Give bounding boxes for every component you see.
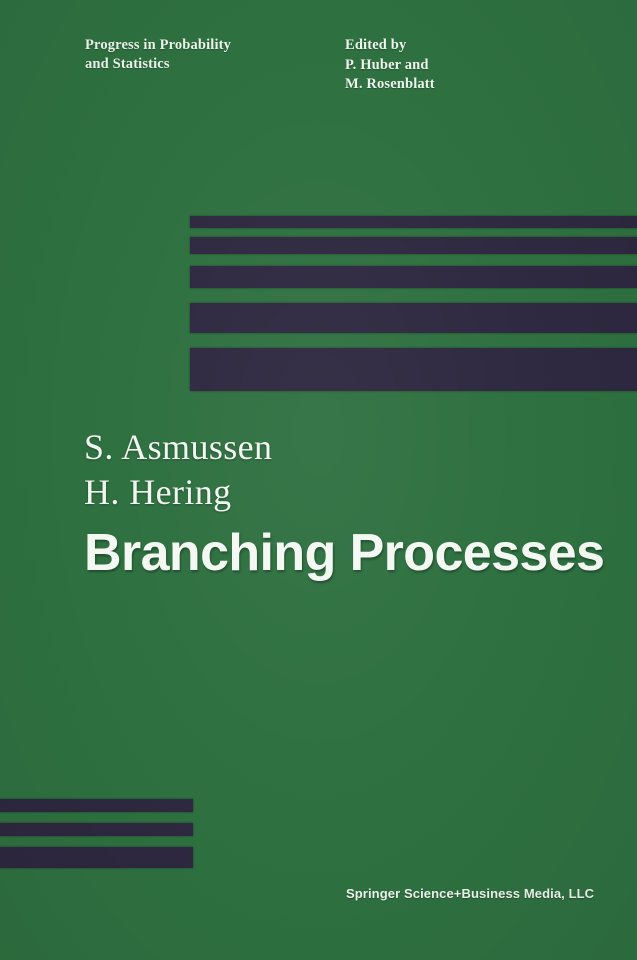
editors-credit: Edited by P. Huber and M. Rosenblatt (345, 36, 595, 95)
decorative-bar-top-5 (190, 348, 637, 391)
author-line-1: S. Asmussen (84, 425, 272, 470)
series-line-1: Progress in Probability (85, 36, 345, 55)
book-cover: Progress in Probability and Statistics E… (0, 0, 637, 960)
editors-line-1: Edited by (345, 36, 595, 56)
author-names: S. Asmussen H. Hering (84, 425, 272, 515)
editors-line-2: P. Huber and (345, 56, 595, 76)
decorative-bar-bottom-2 (0, 823, 193, 836)
decorative-bar-bottom-1 (0, 799, 193, 812)
decorative-bar-top-3 (190, 266, 637, 288)
series-line-2: and Statistics (85, 55, 345, 74)
publisher-imprint: Springer Science+Business Media, LLC (346, 886, 594, 901)
decorative-bar-top-4 (190, 303, 637, 333)
book-title: Branching Processes (84, 524, 604, 582)
decorative-bar-top-1 (190, 216, 637, 228)
decorative-bar-top-2 (190, 237, 637, 254)
series-name: Progress in Probability and Statistics (85, 36, 345, 74)
author-line-2: H. Hering (84, 470, 272, 515)
decorative-bar-bottom-3 (0, 847, 193, 868)
editors-line-3: M. Rosenblatt (345, 75, 595, 95)
